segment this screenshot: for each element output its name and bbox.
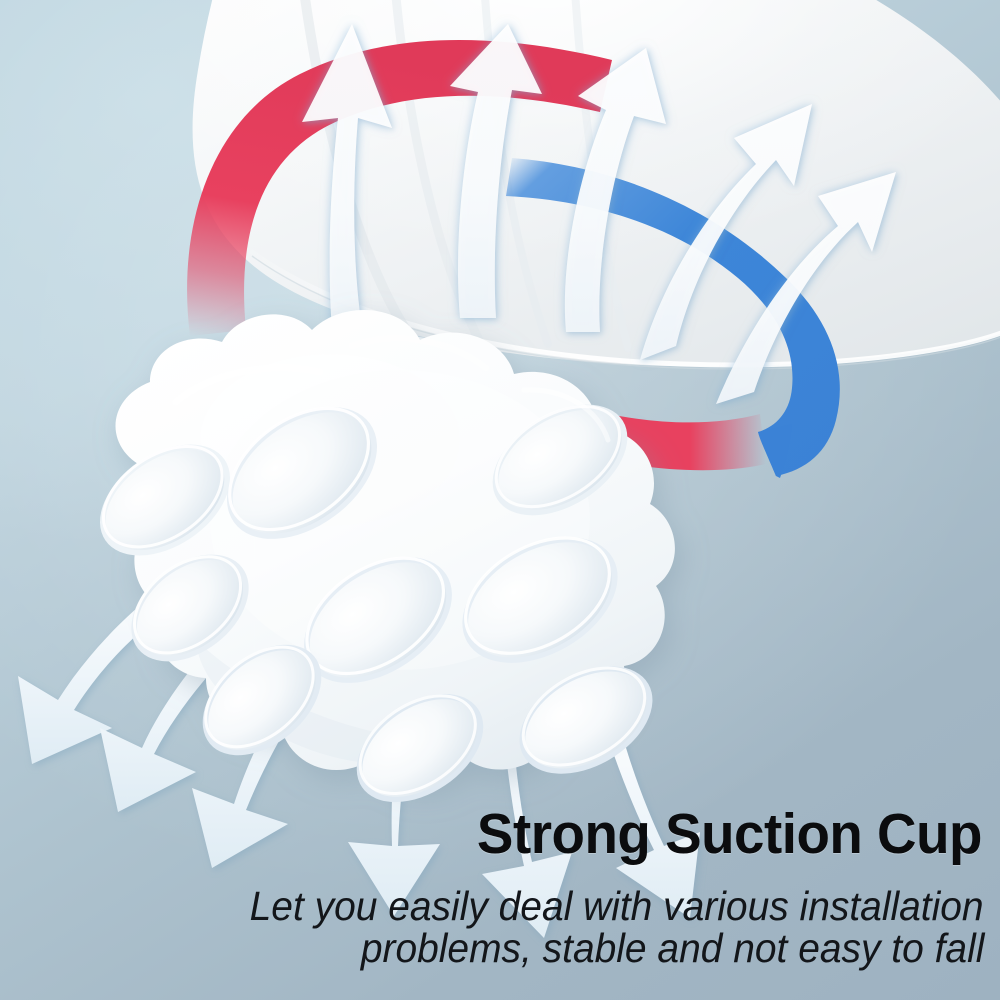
- page-title: Strong Suction Cup: [39, 806, 982, 863]
- product-image-canvas: Strong Suction Cup Let you easily deal w…: [0, 0, 1000, 1000]
- subtitle-line-1: Let you easily deal with various install…: [250, 886, 984, 927]
- subtitle-line-2: problems, stable and not easy to fall: [360, 928, 984, 969]
